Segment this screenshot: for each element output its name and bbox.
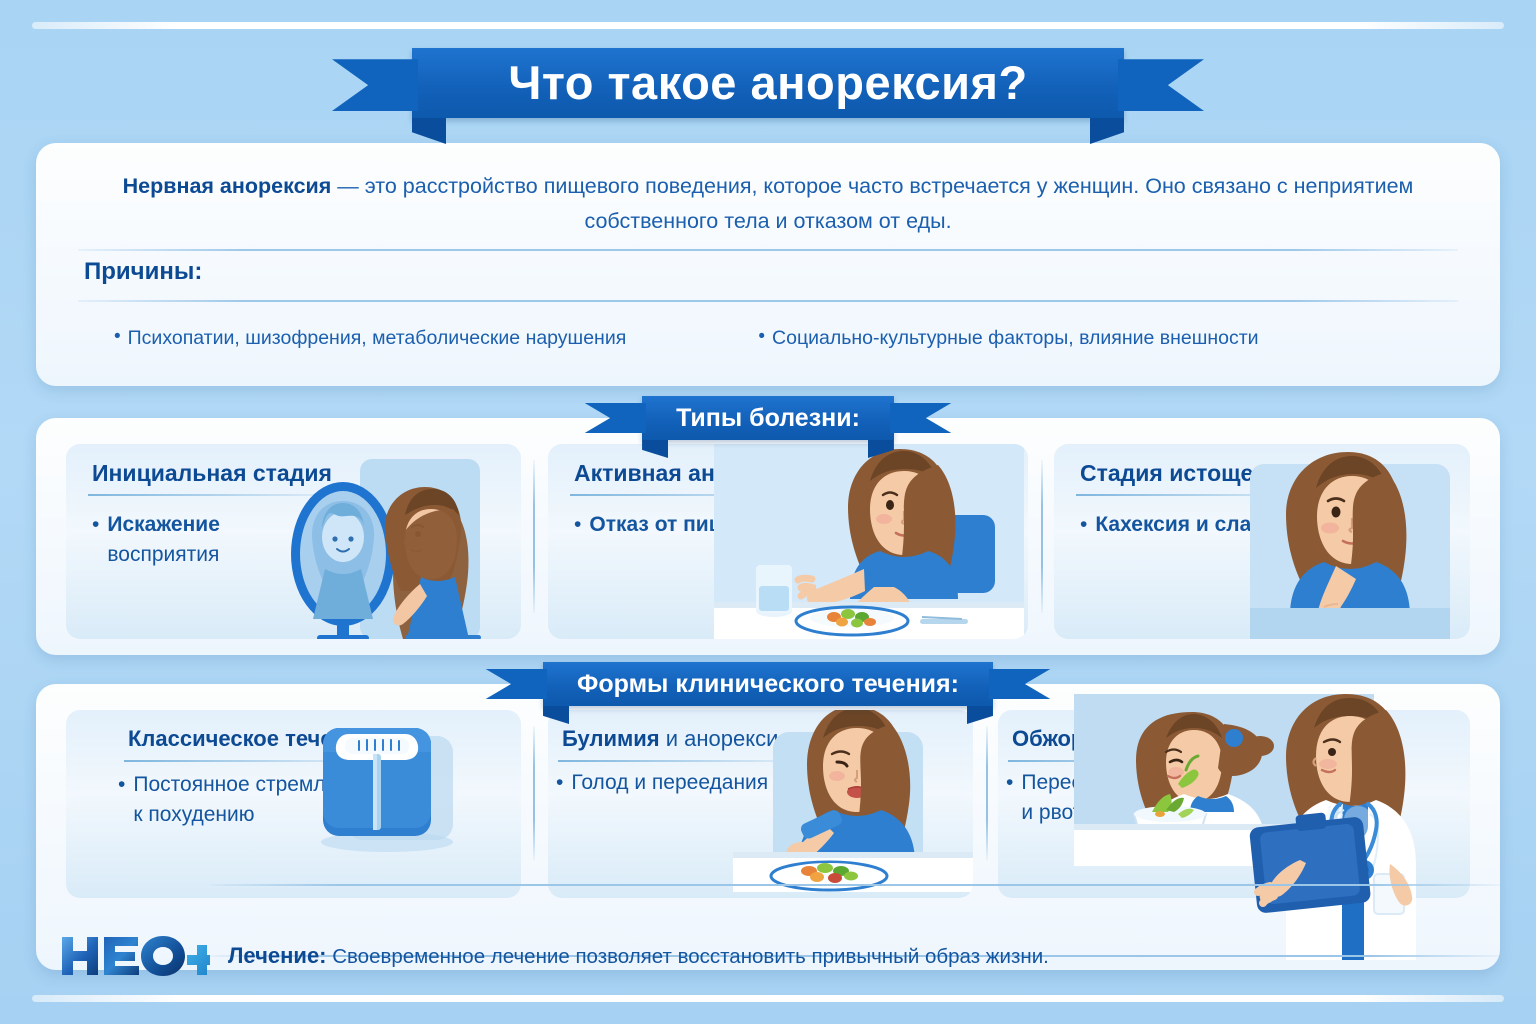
bullet-dot-icon: • <box>118 770 125 800</box>
intro-lead-term: Нервная анорексия <box>123 174 332 198</box>
forms-ribbon: Формы клинического течения: <box>543 662 993 706</box>
ribbon-fold-right <box>1090 118 1124 144</box>
card-bullet: • Отказ от пищи <box>574 510 739 540</box>
types-banner-label: Типы болезни: <box>676 404 860 432</box>
card-title: Инициальная стадия <box>92 460 332 487</box>
bullet-dot-icon: • <box>114 325 121 349</box>
bullet-dot-icon: • <box>1006 768 1013 798</box>
treatment-text: Своевременное лечение позволяет восстано… <box>327 945 1049 968</box>
card-divider <box>533 726 535 860</box>
card-title-underline <box>1076 494 1316 496</box>
treatment-note: Лечение: Своевременное лечение позволяет… <box>228 942 1049 971</box>
card-bullet-strong: Голод и переедания <box>571 771 768 794</box>
intro-divider-1 <box>78 249 1458 251</box>
cause-item: • Социально-культурные факторы, влияние … <box>740 325 1458 351</box>
card-title-underline <box>558 760 798 762</box>
causes-heading: Причины: <box>84 258 202 286</box>
card-bullet-strong: Искажение <box>107 513 220 536</box>
hero-ribbon: Что такое анорексия? <box>412 48 1124 118</box>
card-title: Обжорство с рвотой <box>1012 726 1236 752</box>
cause-text: Социально-культурные факторы, влияние вн… <box>772 325 1259 351</box>
card-bullet: • Кахексия и слабость <box>1080 510 1312 540</box>
card-title: Классическое течение <box>128 726 372 752</box>
bullet-dot-icon: • <box>92 510 99 540</box>
type-card-exhaustion: Стадия истощения • Кахексия и слабость <box>1054 444 1470 639</box>
card-title: Булимия и анорексия <box>562 726 790 752</box>
ribbon-fold-left <box>412 118 446 144</box>
intro-lead-rest: — это расстройство пищевого поведения, к… <box>331 174 1413 233</box>
form-card-classic: Классическое течение • Постоянное стремл… <box>66 710 521 898</box>
card-title: Стадия истощения <box>1080 460 1295 487</box>
forms-banner-label: Формы клинического течения: <box>577 670 959 698</box>
intro-divider-2 <box>78 300 1458 302</box>
bullet-dot-icon: • <box>556 768 563 798</box>
card-bullet-strong: Кахексия и слабость <box>1095 513 1311 536</box>
card-divider <box>986 726 988 860</box>
footer-divider-top <box>210 884 1500 886</box>
bullet-dot-icon: • <box>758 325 765 349</box>
neo-logo <box>60 934 210 978</box>
top-decorative-rule <box>32 22 1504 29</box>
bullet-dot-icon: • <box>1080 510 1087 540</box>
types-panel: Инициальная стадия • Искажениевосприятия <box>36 418 1500 655</box>
card-bullet-strong: Отказ от пищи <box>589 513 739 536</box>
card-title-underline <box>1008 760 1226 762</box>
card-bullet-strong: Постоянное стремление <box>133 773 372 796</box>
ribbon-tail-left <box>332 59 418 111</box>
footer: Лечение: Своевременное лечение позволяет… <box>60 924 1476 988</box>
bottom-decorative-rule <box>32 995 1504 1002</box>
card-title: Активная анорексия <box>574 460 807 487</box>
card-title-underline <box>88 494 334 496</box>
intro-definition: Нервная анорексия — это расстройство пищ… <box>78 169 1458 239</box>
page-title: Что такое анорексия? <box>508 56 1027 109</box>
cause-item: • Психопатии, шизофрения, метаболические… <box>78 325 740 351</box>
type-card-initial: Инициальная стадия • Искажениевосприятия <box>66 444 521 639</box>
bullet-dot-icon: • <box>574 510 581 540</box>
card-title-underline <box>570 494 820 496</box>
form-card-binge-vomit: Обжорство с рвотой • Перееданиеи рвотный… <box>998 710 1470 898</box>
card-bullet-rest: к похудению <box>133 803 254 826</box>
treatment-label: Лечение: <box>228 943 327 968</box>
neo-logo-icon <box>60 933 210 979</box>
card-bullet: • Голод и переедания <box>556 768 768 798</box>
card-divider <box>1041 460 1043 613</box>
card-bullet: • Постоянное стремлениек похудению <box>118 770 372 830</box>
card-divider <box>533 460 535 613</box>
types-ribbon: Типы болезни: <box>642 396 894 440</box>
card-bullet: • Искажениевосприятия <box>92 510 220 570</box>
card-bullet-rest: восприятия <box>107 543 219 566</box>
cause-text: Психопатии, шизофрения, метаболические н… <box>128 325 627 351</box>
card-bullet-rest: и рвотный рефлекс <box>1021 801 1210 824</box>
form-card-bulimia: Булимия и анорексия • Голод и переедания <box>548 710 973 898</box>
card-bullet: • Перееданиеи рвотный рефлекс <box>1006 768 1211 828</box>
causes-list: • Психопатии, шизофрения, метаболические… <box>78 325 1458 351</box>
type-card-active: Активная анорексия • Отказ от пищи <box>548 444 1028 639</box>
card-title-underline <box>124 760 364 762</box>
card-bullet-strong: Переедание <box>1021 771 1141 794</box>
hero-banner: Что такое анорексия? <box>0 48 1536 118</box>
ribbon-tail-right <box>1118 59 1204 111</box>
intro-panel: Нервная анорексия — это расстройство пищ… <box>36 143 1500 386</box>
